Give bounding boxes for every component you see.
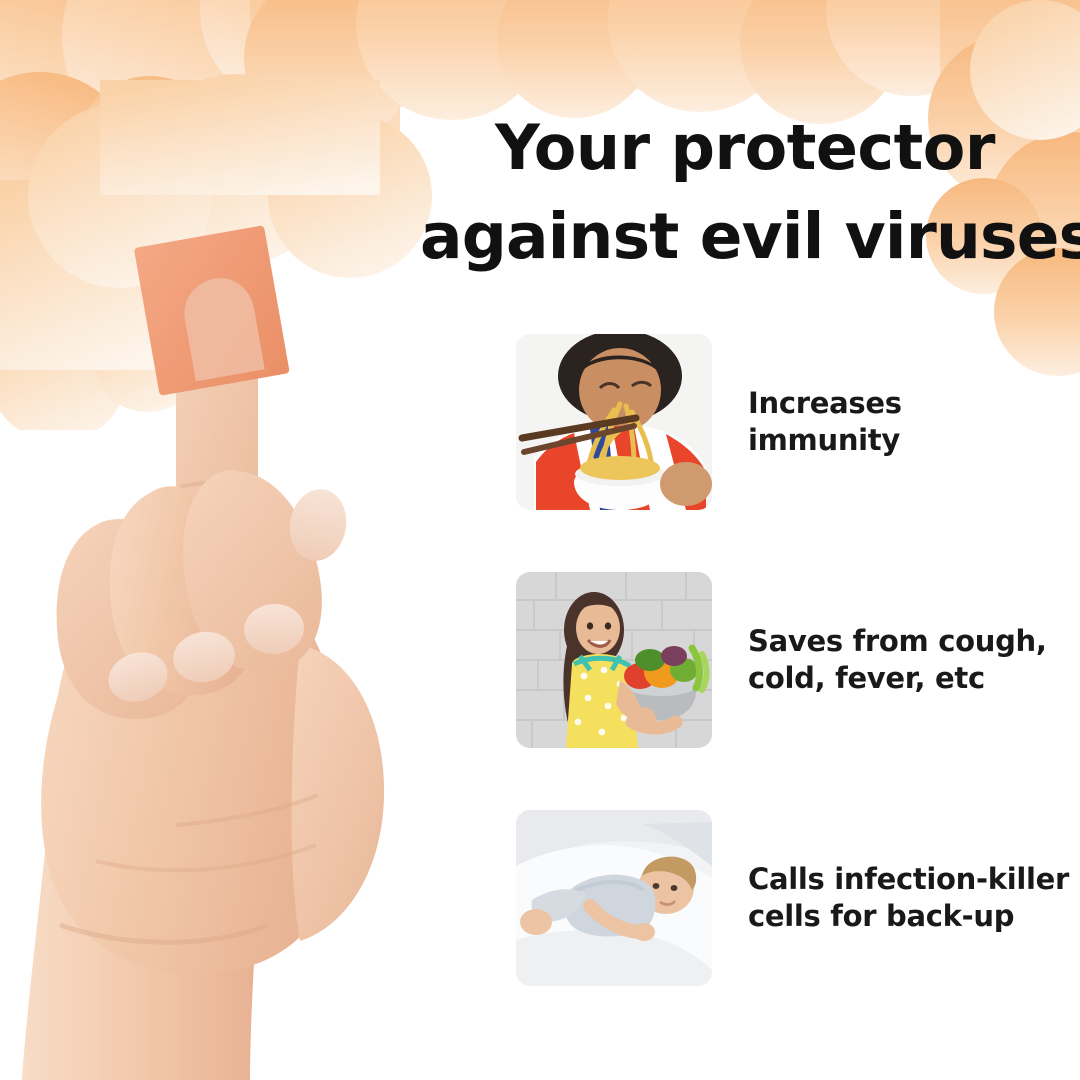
list-item: Calls infection-killer cells for back-up xyxy=(516,810,1080,986)
child-resting-in-bed-photo xyxy=(516,810,712,986)
girl-holding-vegetables-photo xyxy=(516,572,712,748)
list-item-label: Increases immunity xyxy=(748,385,902,459)
benefit-list: Increases immunity xyxy=(516,334,1080,986)
child-eating-noodles-photo xyxy=(516,334,712,510)
headline-line-2: against evil viruses xyxy=(420,192,1070,281)
list-item: Saves from cough, cold, fever, etc xyxy=(516,572,1080,748)
list-item-label: Calls infection-killer cells for back-up xyxy=(748,861,1069,935)
promo-poster: Your protector against evil viruses xyxy=(0,0,1080,1080)
list-item: Increases immunity xyxy=(516,334,1080,510)
pointing-hand-illustration xyxy=(0,225,470,1080)
finger-bandage xyxy=(134,225,290,396)
list-item-label: Saves from cough, cold, fever, etc xyxy=(748,623,1047,697)
page-title: Your protector against evil viruses xyxy=(420,104,1070,281)
headline-line-1: Your protector xyxy=(420,104,1070,192)
